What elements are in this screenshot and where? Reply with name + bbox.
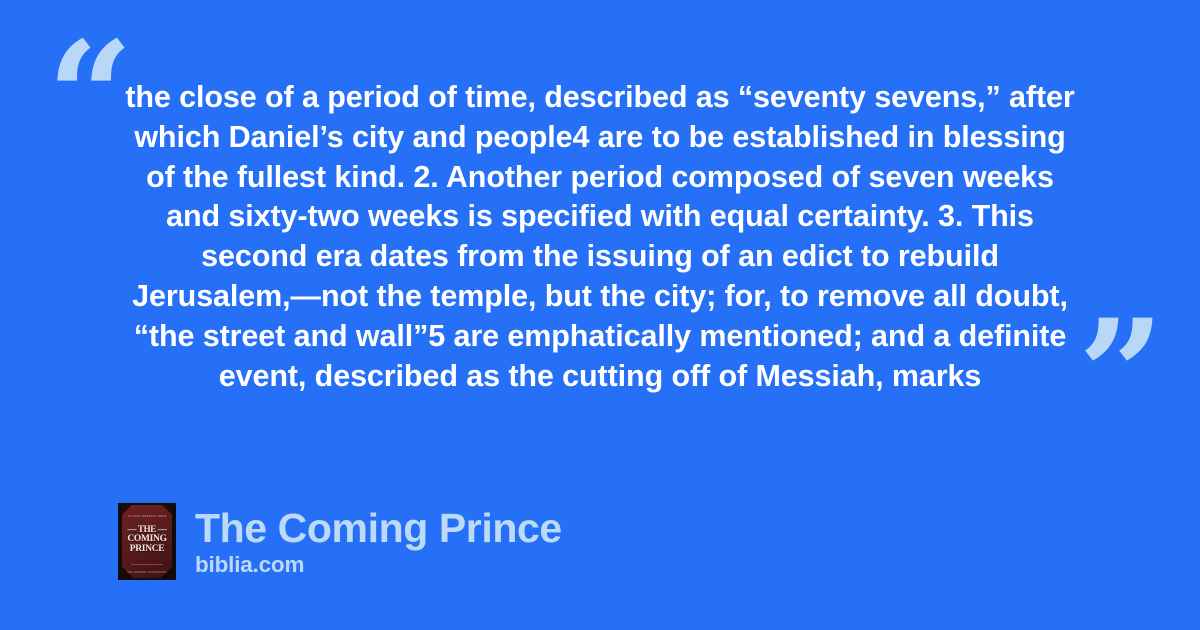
site-name[interactable]: biblia.com xyxy=(195,552,562,578)
close-quote-icon: ” xyxy=(1078,300,1162,450)
book-cover-title-line-2: COMING xyxy=(123,534,171,544)
book-cover-thumbnail: CLASSIC REPRINT SERIES — THE — COMING PR… xyxy=(118,503,176,580)
quote-line: and sixty-two weeks is specified with eq… xyxy=(100,197,1100,237)
quote-line: of the fullest kind. 2. Another period c… xyxy=(100,158,1100,198)
quote-text-block: the close of a period of time, described… xyxy=(100,78,1100,396)
footer-text-block: The Coming Prince biblia.com xyxy=(195,506,562,578)
quote-line: second era dates from the issuing of an … xyxy=(100,237,1100,277)
book-cover-title-line-3: PRINCE xyxy=(123,544,171,554)
quote-line: Jerusalem,—not the temple, but the city;… xyxy=(100,277,1100,317)
book-cover-author-label: SIR ROBERT ANDERSON xyxy=(126,570,168,574)
book-title: The Coming Prince xyxy=(195,506,562,551)
quote-card: “ the close of a period of time, describ… xyxy=(0,0,1200,630)
book-cover-divider xyxy=(131,564,163,565)
quote-line: “the street and wall”5 are emphatically … xyxy=(100,317,1100,357)
book-cover-title: — THE — COMING PRINCE xyxy=(123,524,171,554)
quote-line: which Daniel’s city and people4 are to b… xyxy=(100,118,1100,158)
quote-line: event, described as the cutting off of M… xyxy=(100,357,1100,397)
book-cover-title-line-1: — THE — xyxy=(123,524,171,534)
quote-line: the close of a period of time, described… xyxy=(100,78,1100,118)
footer-attribution: CLASSIC REPRINT SERIES — THE — COMING PR… xyxy=(118,503,562,580)
book-cover-series-label: CLASSIC REPRINT SERIES xyxy=(128,514,166,518)
